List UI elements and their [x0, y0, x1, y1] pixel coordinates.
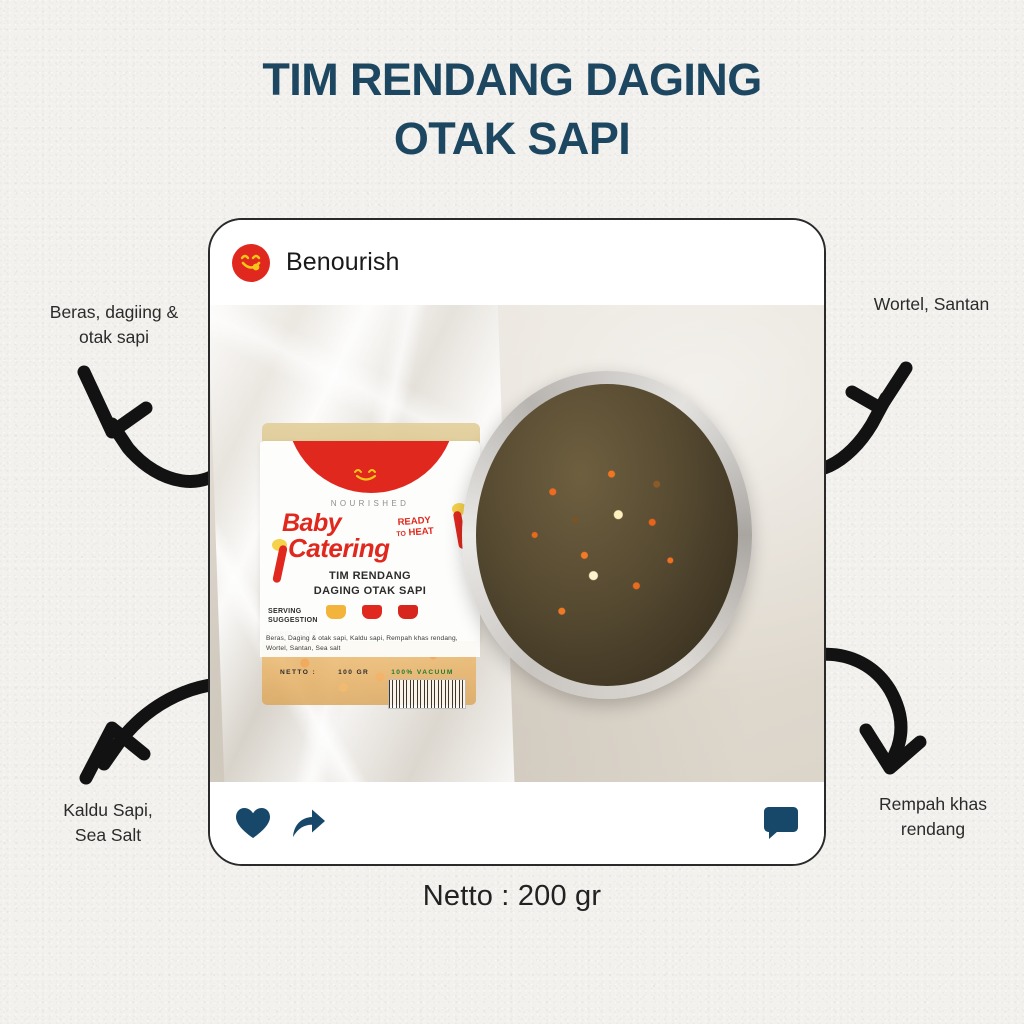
label-ready-badge: READY TO HEAT	[395, 516, 434, 540]
step-icon-1	[326, 605, 346, 619]
instagram-post-card: Benourish NOURISHED Baby Catering READY …	[208, 218, 826, 866]
label-step-icons	[326, 605, 418, 619]
post-header: Benourish	[210, 220, 824, 305]
label-variant: TIM RENDANG DAGING OTAK SAPI	[260, 569, 480, 599]
page-title-line-2: OTAK SAPI	[0, 109, 1024, 168]
label-serving-suggestion: SERVING SUGGESTION	[268, 607, 318, 625]
bowl-interior	[476, 384, 738, 686]
annotation-bottom-left-line-2: Sea Salt	[18, 823, 198, 848]
comment-button[interactable]	[764, 807, 798, 839]
like-button[interactable]	[236, 808, 270, 839]
annotation-bottom-left: Kaldu Sapi, Sea Salt	[18, 798, 198, 849]
label-netto-label: NETTO :	[280, 669, 316, 676]
post-action-bar	[210, 782, 824, 864]
annotation-top-left: Beras, dagiing & otak sapi	[14, 300, 214, 351]
steel-bowl	[462, 371, 752, 699]
netto-caption: Netto : 200 gr	[0, 880, 1024, 913]
annotation-bottom-right-line-1: Rempah khas	[848, 792, 1018, 817]
account-name[interactable]: Benourish	[286, 248, 399, 277]
annotation-bottom-right: Rempah khas rendang	[848, 792, 1018, 843]
annotation-bottom-left-line-1: Kaldu Sapi,	[18, 798, 198, 823]
heart-icon	[236, 808, 270, 839]
arrow-top-left	[84, 372, 228, 481]
label-product-line-2: Catering	[288, 533, 389, 564]
label-variant-line-1: TIM RENDANG	[329, 570, 411, 582]
package-label: NOURISHED Baby Catering READY TO HEAT TI…	[260, 441, 480, 641]
label-barcode	[388, 679, 466, 709]
label-ingredients-text: Beras, Daging & otak sapi, Kaldu sapi, R…	[260, 631, 480, 657]
serving-line-1: SERVING	[268, 608, 301, 615]
share-arrow-icon	[292, 808, 326, 839]
badge-line-2: TO	[396, 531, 406, 539]
post-actions-left	[236, 808, 326, 839]
share-button[interactable]	[292, 808, 326, 839]
product-photo: NOURISHED Baby Catering READY TO HEAT TI…	[210, 305, 824, 783]
rendang-rice-food	[494, 408, 719, 662]
label-netto-value: 100 GR	[338, 669, 369, 676]
label-netto-row: NETTO : 100 GR 100% VACUUM	[280, 669, 454, 676]
page-title: TIM RENDANG DAGING OTAK SAPI	[0, 50, 1024, 169]
annotation-top-right: Wortel, Santan	[844, 292, 1019, 317]
label-smiley-icon	[352, 467, 380, 483]
step-icon-3	[398, 605, 418, 619]
step-icon-2	[362, 605, 382, 619]
comment-bubble-icon	[764, 807, 798, 839]
serving-line-2: SUGGESTION	[268, 617, 318, 624]
label-variant-line-2: DAGING OTAK SAPI	[314, 585, 427, 597]
badge-line-3: HEAT	[408, 526, 434, 539]
annotation-top-left-line-1: Beras, dagiing &	[14, 300, 214, 325]
annotation-bottom-right-line-2: rendang	[848, 817, 1018, 842]
annotation-top-left-line-2: otak sapi	[14, 325, 214, 350]
avatar[interactable]	[232, 244, 270, 282]
page-title-line-1: TIM RENDANG DAGING	[262, 54, 761, 105]
label-brand: NOURISHED	[260, 499, 480, 508]
label-vacuum-badge: 100% VACUUM	[391, 669, 454, 676]
smiley-face-icon	[239, 252, 263, 274]
